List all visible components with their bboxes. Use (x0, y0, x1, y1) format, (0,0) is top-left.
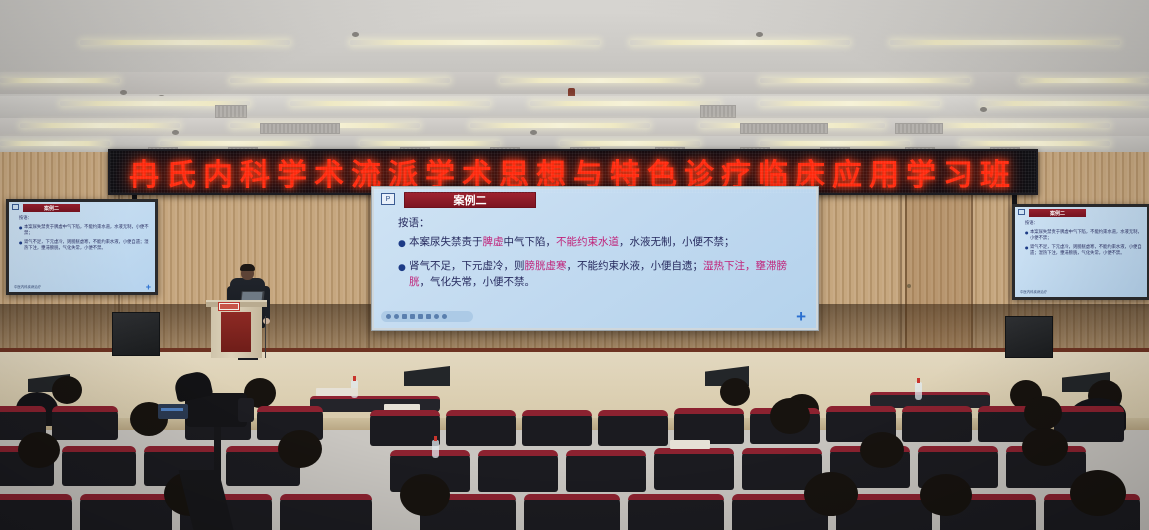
door-knob[interactable] (907, 284, 911, 288)
auditorium-seat (370, 410, 440, 446)
auditorium-seat (902, 406, 972, 442)
stage-door-left[interactable] (905, 194, 973, 356)
slide-plain-text: 肾气不足，下元虚冷，则 (409, 260, 525, 272)
slide-title-bar: 案例二 (404, 192, 536, 208)
ceiling-vent (700, 105, 736, 118)
auditorium-seat (674, 408, 744, 444)
auditorium-photo: 冉氏内科学术流派学术思想与特色诊疗临床应用学习班 案例二 按语： ● 本案尿失禁… (0, 0, 1149, 530)
slide-bullet-text: 本案尿失禁责于脾虚中气下陷，不能约束水道，水液无制，小便不禁； (24, 225, 150, 238)
audience-head (860, 432, 904, 468)
plus-icon: + (146, 284, 151, 290)
ppt-icon (12, 204, 19, 210)
slide-bullet: ● 肾气不足，下元虚冷，则膀胱虚寒，不能约束水液，小便自遗；湿热下注，壅滞膀胱，… (398, 258, 802, 290)
slide-plain-text: ，水液无制，小便不禁； (619, 236, 735, 248)
auditorium-seat (62, 446, 136, 486)
ceiling-vent (895, 123, 943, 134)
pointer-icon[interactable] (394, 314, 399, 319)
auditorium-seat (566, 450, 646, 492)
stage-loudspeaker (112, 312, 160, 356)
slide-plain-text: ，气化失常，小便不禁。 (420, 276, 536, 288)
left-side-monitor: 案例二 按语： ● 本案尿失禁责于脾虚中气下陷，不能约束水道，水液无制，小便不禁… (6, 199, 158, 295)
slide-title-bar: 案例二 (23, 204, 80, 212)
more-icon[interactable] (442, 314, 447, 319)
handout-paper (670, 440, 710, 449)
blank-icon[interactable] (426, 314, 431, 319)
slide-highlight-text: 膀胱虚寒 (525, 260, 567, 272)
slide-highlight-text: 脾虚 (483, 236, 504, 248)
water-bottle (915, 382, 922, 400)
slide-plain-text: ，不能约束水液，小便自遗； (567, 260, 704, 272)
water-bottle (432, 440, 439, 458)
auditorium-seat (80, 494, 172, 530)
pen-icon[interactable] (386, 314, 391, 319)
presentation-slide: P 案例二 按语： ● 本案尿失禁责于脾虚中气下陷，不能约束水道，水液无制，小便… (374, 189, 816, 328)
bullet-icon: ● (398, 258, 409, 290)
highlighter-icon[interactable] (402, 314, 407, 319)
slide-lead: 按语： (398, 215, 802, 231)
slide-bullet-text: 本案尿失禁责于脾虚中气下陷，不能约束水道，水液无制，小便不禁； (409, 234, 802, 252)
right-side-monitor: 案例二 按语： ● 本案尿失禁责于脾虚中气下陷，不能约束水道，水液无制，小便不禁… (1012, 204, 1149, 300)
audience-head (278, 430, 322, 468)
auditorium-seat (280, 494, 372, 530)
plus-icon[interactable]: + (796, 312, 806, 322)
presentation-toolbar[interactable] (381, 311, 473, 322)
slide-icon[interactable] (418, 314, 423, 319)
slide-body: 按语： ● 本案尿失禁责于脾虚中气下陷，不能约束水道，水液无制，小便不禁； ● … (398, 215, 802, 296)
audience-head (1024, 396, 1062, 430)
slide-bullet: ● 本案尿失禁责于脾虚中气下陷，不能约束水道，水液无制，小便不禁； (398, 234, 802, 252)
slide-plain-text: 中气下陷， (504, 236, 557, 248)
ceiling-vent (215, 105, 247, 118)
handout-paper (316, 388, 358, 396)
camera-lens (238, 398, 254, 422)
slide-highlight-text: 不能约束水道 (556, 236, 619, 248)
audience-head (804, 472, 858, 516)
ceiling-vent (740, 123, 828, 134)
audience-head (920, 474, 972, 516)
auditorium-seat (524, 494, 620, 530)
auditorium-seat (446, 410, 516, 446)
podium-front-panel (221, 312, 251, 352)
auditorium-seat (0, 494, 72, 530)
podium-sign (218, 302, 240, 311)
audience-head (770, 398, 810, 434)
slide-body: 按语： ● 本案尿失禁责于脾虚中气下陷，不能约束水道，水液无制，小便不禁； ● … (19, 216, 150, 253)
auditorium-seat (628, 494, 724, 530)
slide-bullet-text: 肾气不足，下元虚冷，则膀胱虚寒，不能约束水液，小便自遗；湿热下注，壅滞膀胱，气化… (409, 258, 802, 290)
slide-title-bar: 案例二 (1029, 209, 1086, 217)
auditorium-seat (478, 450, 558, 492)
audience-head (1022, 428, 1068, 466)
bullet-icon: ● (398, 234, 409, 252)
slide-bullet-text: 本案尿失禁责于脾虚中气下陷，不能约束水道，水液无制，小便不禁； (1030, 230, 1142, 243)
ppt-icon[interactable]: P (381, 193, 395, 205)
ppt-icon (1018, 209, 1025, 215)
audience-head (1070, 470, 1126, 516)
auditorium-seat (598, 410, 668, 446)
audience-head (52, 376, 82, 404)
eraser-icon[interactable] (410, 314, 415, 319)
slide-footer: 中医内科疾病治疗 (1020, 289, 1047, 294)
audience-head (720, 378, 750, 406)
auditorium-seat (522, 410, 592, 446)
ceiling (0, 0, 1149, 160)
auditorium-seat (654, 448, 734, 490)
audience-head (18, 432, 60, 468)
slide-title-text: 案例二 (405, 193, 535, 207)
slide-footer: 中医内科疾病治疗 (14, 284, 41, 289)
slide-title-text: 案例二 (23, 204, 80, 212)
slide-plain-text: 本案尿失禁责于 (409, 236, 483, 248)
camera-control-panel[interactable] (158, 404, 188, 419)
presenter-hair (240, 264, 255, 271)
audience-area (0, 372, 1149, 530)
projection-screen: P 案例二 按语： ● 本案尿失禁责于脾虚中气下陷，不能约束水道，水液无制，小便… (371, 186, 819, 331)
auditorium-seat (52, 406, 118, 440)
audience-head (400, 474, 450, 516)
slide-bullet-text: 肾气不足，下元虚冷，则膀胱虚寒，不能约束水液，小便自遗；湿热下注，壅滞膀胱，气化… (24, 240, 150, 253)
slide-lead: 按语： (19, 216, 150, 223)
menu-icon[interactable] (434, 314, 439, 319)
microphone-stand (265, 316, 266, 358)
stage-loudspeaker (1005, 316, 1053, 358)
slide-body: 按语： ● 本案尿失禁责于脾虚中气下陷，不能约束水道，水液无制，小便不禁； ● … (1025, 221, 1142, 258)
slide-title-text: 案例二 (1029, 209, 1086, 217)
ceiling-vent (260, 123, 340, 134)
slide-lead: 按语： (1025, 221, 1142, 228)
slide-bullet-text: 肾气不足，下元虚冷，则膀胱虚寒，不能约束水液，小便自遗；湿热下注，壅滞膀胱，气化… (1030, 245, 1142, 258)
